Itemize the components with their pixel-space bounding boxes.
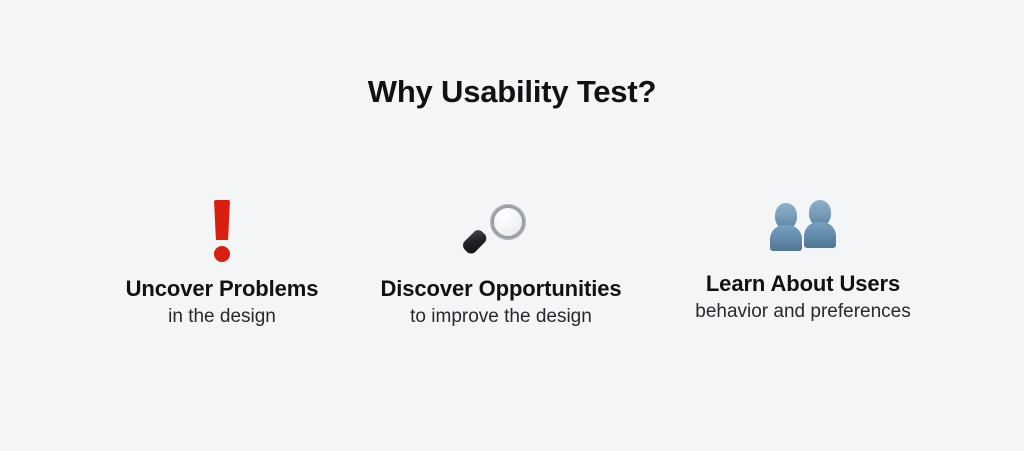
benefit-subtitle: in the design [92,306,352,329]
slide-canvas: Why Usability Test? Uncover Problems in … [0,0,1024,451]
busts-in-silhouette-icon [768,195,838,257]
exclamation-mark-icon [207,200,237,262]
benefit-icon-slot [92,186,352,276]
benefit-column-uncover-problems: Uncover Problems in the design [92,186,352,329]
benefit-column-learn-about-users: Learn About Users behavior and preferenc… [663,181,943,324]
page-title: Why Usability Test? [0,74,1024,110]
exclamation-bar [214,200,230,240]
bust-front [770,203,802,251]
bust-body [770,225,802,251]
bust-body [804,222,836,248]
benefit-icon-slot [663,181,943,271]
benefit-column-discover-opportunities: Discover Opportunities to improve the de… [361,186,641,329]
bust-back [804,200,836,248]
benefit-heading: Uncover Problems [92,276,352,301]
benefit-subtitle: to improve the design [361,306,641,329]
magnifier-handle [461,228,489,256]
benefit-subtitle: behavior and preferences [663,301,943,324]
benefit-heading: Discover Opportunities [361,276,641,301]
exclamation-dot [214,246,230,262]
magnifier-lens [490,204,526,240]
magnifying-glass-icon [470,200,532,262]
benefit-heading: Learn About Users [663,271,943,296]
benefit-columns: Uncover Problems in the design Discover … [0,186,1024,376]
benefit-icon-slot [361,186,641,276]
